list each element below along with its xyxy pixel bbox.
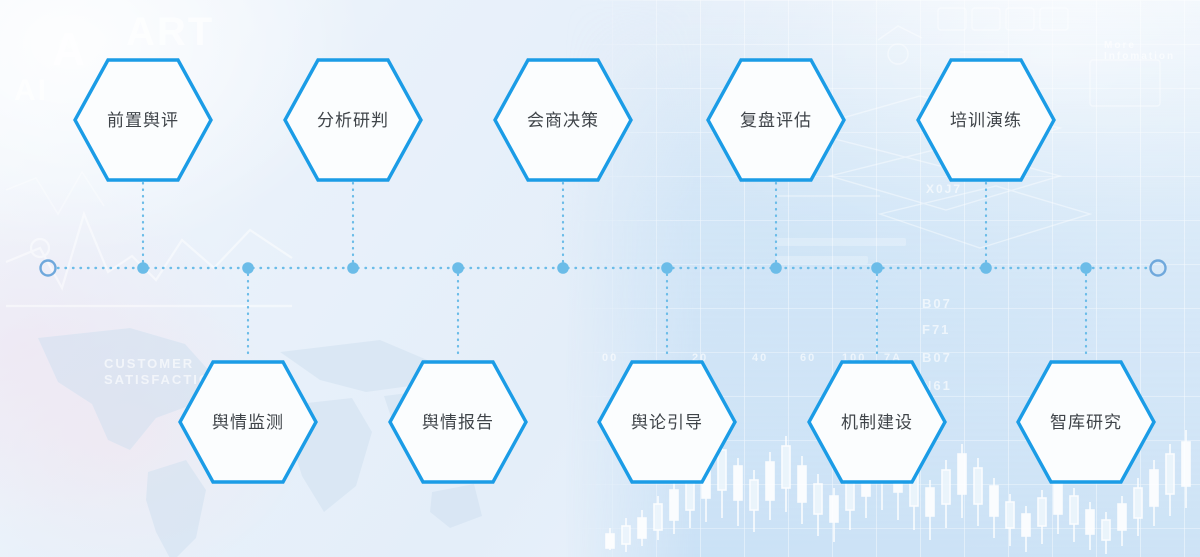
timeline-start-marker <box>41 261 56 276</box>
timeline-node-dot-n7[interactable] <box>770 262 782 274</box>
timeline-node-dot-n5[interactable] <box>557 262 569 274</box>
hexagon-label: 培训演练 <box>950 112 1022 129</box>
hexagon-label: 舆论引导 <box>631 414 703 431</box>
hexagon-label: 复盘评估 <box>740 112 812 129</box>
hexagon-label: 智库研究 <box>1050 414 1122 431</box>
timeline-end-marker <box>1151 261 1166 276</box>
hexagon-node-n8[interactable]: 机制建设 <box>806 359 948 485</box>
timeline-node-dot-n2[interactable] <box>242 262 254 274</box>
hexagon-node-n2[interactable]: 舆情监测 <box>177 359 319 485</box>
timeline-node-dot-n6[interactable] <box>661 262 673 274</box>
hexagon-node-n7[interactable]: 复盘评估 <box>705 57 847 183</box>
hexagon-node-n9[interactable]: 培训演练 <box>915 57 1057 183</box>
hexagon-node-n3[interactable]: 分析研判 <box>282 57 424 183</box>
hexagon-node-n10[interactable]: 智库研究 <box>1015 359 1157 485</box>
timeline-node-dot-n9[interactable] <box>980 262 992 274</box>
hexagon-node-n1[interactable]: 前置舆评 <box>72 57 214 183</box>
timeline-node-dot-n4[interactable] <box>452 262 464 274</box>
timeline-node-dot-n3[interactable] <box>347 262 359 274</box>
hexagon-label: 舆情监测 <box>212 414 284 431</box>
hexagon-node-n6[interactable]: 舆论引导 <box>596 359 738 485</box>
hexagon-node-n5[interactable]: 会商决策 <box>492 57 634 183</box>
hexagon-label: 前置舆评 <box>107 112 179 129</box>
infographic-canvas: AAIARTCUSTOMERSATISFACTIONMore Infomatio… <box>0 0 1200 557</box>
timeline-node-dot-n8[interactable] <box>871 262 883 274</box>
hexagon-label: 舆情报告 <box>422 414 494 431</box>
hexagon-node-n4[interactable]: 舆情报告 <box>387 359 529 485</box>
timeline-node-dot-n1[interactable] <box>137 262 149 274</box>
hexagon-label: 机制建设 <box>841 414 913 431</box>
hexagon-label: 会商决策 <box>527 112 599 129</box>
timeline-node-dot-n10[interactable] <box>1080 262 1092 274</box>
hexagon-label: 分析研判 <box>317 112 389 129</box>
